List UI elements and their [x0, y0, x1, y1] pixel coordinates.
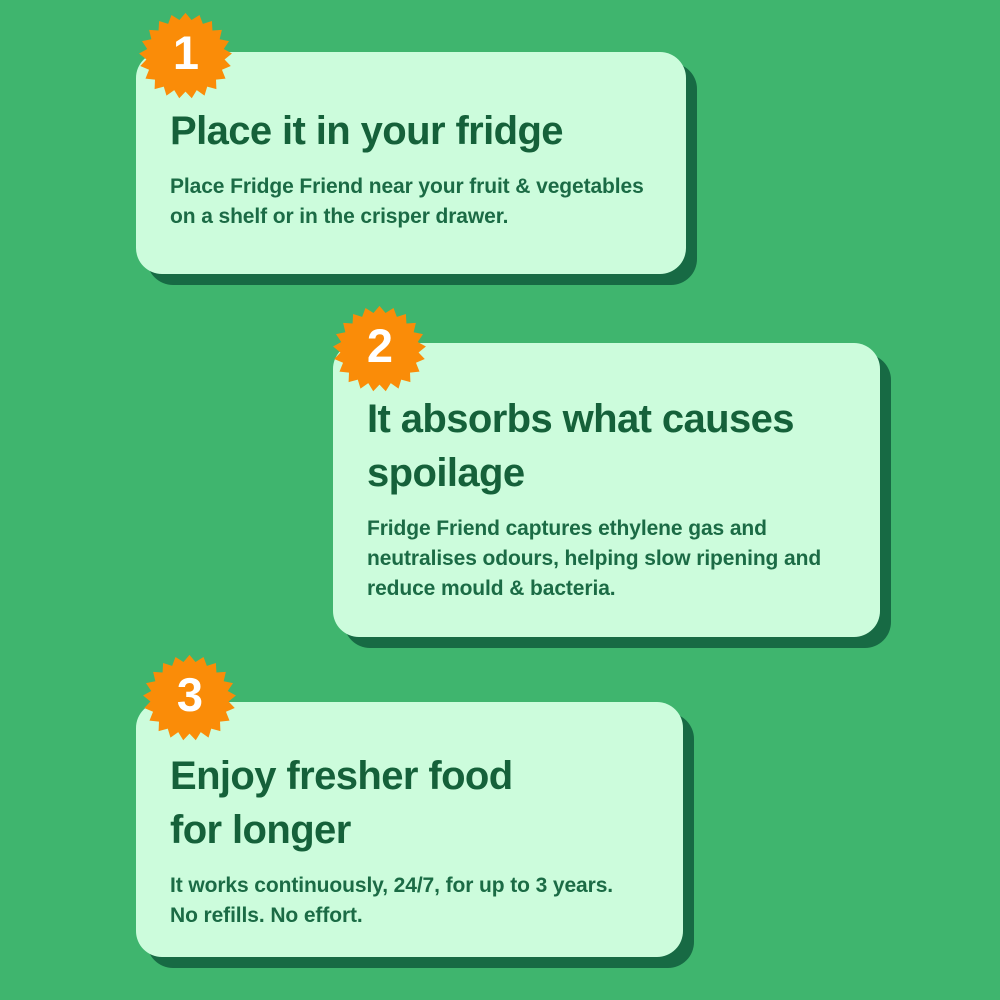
step-title: It absorbs what causes spoilage — [367, 392, 846, 500]
step-body: Fridge Friend captures ethylene gas and … — [367, 514, 846, 604]
spacer — [170, 857, 649, 871]
starburst-badge-icon: 1 — [139, 6, 232, 99]
step-body: Place Fridge Friend near your fruit & ve… — [170, 172, 652, 232]
spacer — [170, 158, 652, 172]
step-number: 2 — [333, 299, 426, 392]
step-body: It works continuously, 24/7, for up to 3… — [170, 871, 649, 931]
spacer — [367, 500, 846, 514]
step-number: 3 — [143, 648, 236, 741]
step-title: Enjoy fresher food for longer — [170, 749, 649, 857]
starburst-badge-icon: 3 — [143, 648, 236, 741]
step-title: Place it in your fridge — [170, 104, 652, 158]
how-it-works-steps-graphic: Place it in your fridge Place Fridge Fri… — [0, 0, 1000, 1000]
step-number: 1 — [139, 6, 232, 99]
starburst-badge-icon: 2 — [333, 299, 426, 392]
